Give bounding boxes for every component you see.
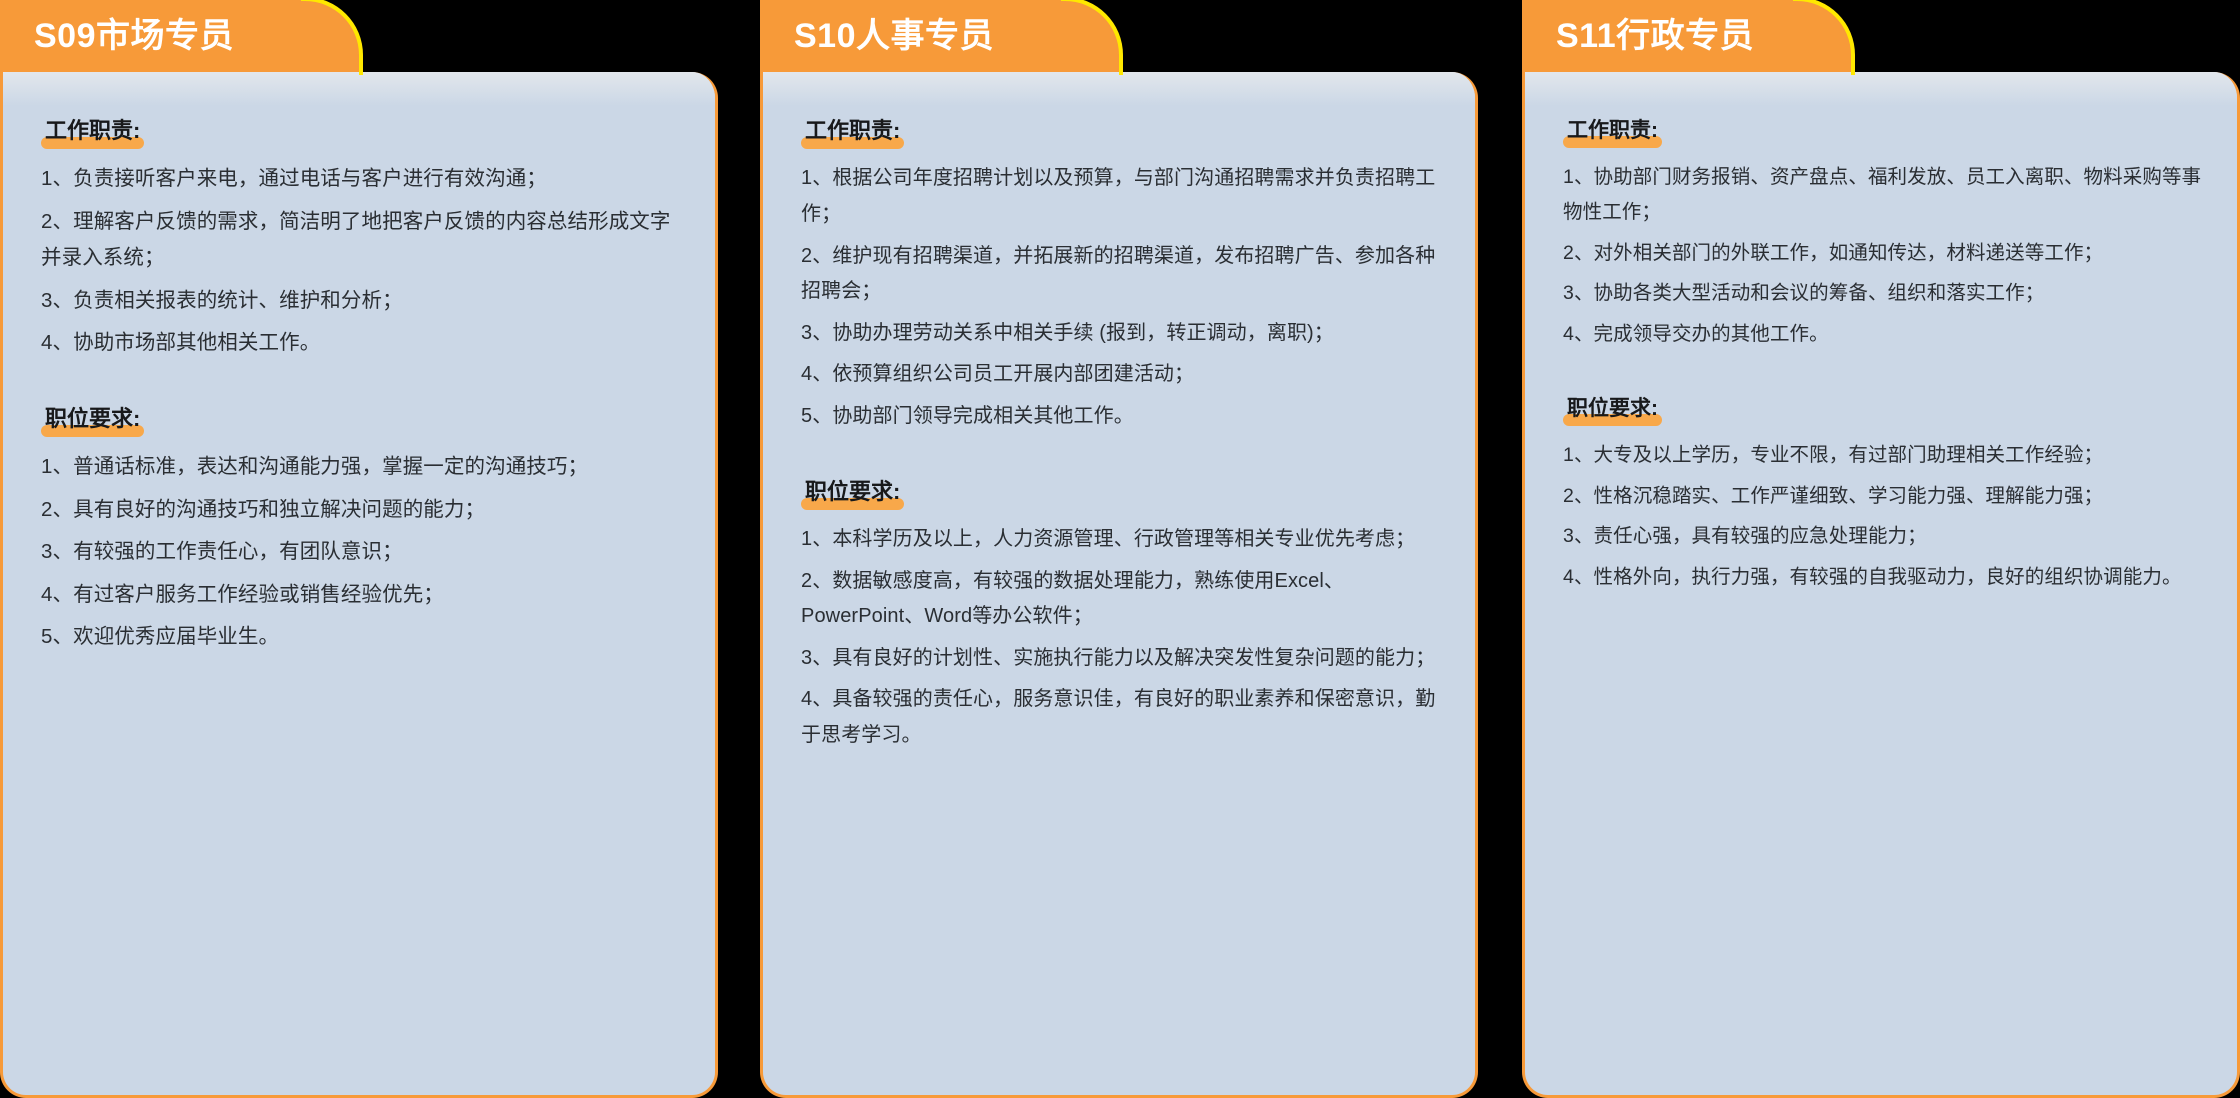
tab-corner-accent-icon <box>1061 0 1123 75</box>
list-item: 3、协助各类大型活动和会议的筹备、组织和落实工作； <box>1563 276 2211 311</box>
requirements-list-s11: 1、大专及以上学历，专业不限，有过部门助理相关工作经验； 2、性格沉稳踏实、工作… <box>1563 438 2211 595</box>
list-item: 1、协助部门财务报销、资产盘点、福利发放、员工入离职、物料采购等事物性工作； <box>1563 160 2211 229</box>
section-heading-duties-s09: 工作职责: <box>41 118 144 147</box>
job-card-s11: S11行政专员 工作职责: 1、协助部门财务报销、资产盘点、福利发放、员工入离职… <box>1522 0 2240 1098</box>
job-card-body-s11: 工作职责: 1、协助部门财务报销、资产盘点、福利发放、员工入离职、物料采购等事物… <box>1522 72 2240 1098</box>
list-item: 4、完成领导交办的其他工作。 <box>1563 317 2211 352</box>
list-item: 3、具有良好的计划性、实施执行能力以及解决突发性复杂问题的能力； <box>801 641 1449 677</box>
job-card-tab-s11: S11行政专员 <box>1522 0 1852 72</box>
section-requirements-s10: 职位要求: 1、本科学历及以上，人力资源管理、行政管理等相关专业优先考虑； 2、… <box>801 479 1449 754</box>
job-title-s10: S10人事专员 <box>794 19 994 53</box>
list-item: 2、性格沉稳踏实、工作严谨细致、学习能力强、理解能力强； <box>1563 479 2211 514</box>
section-heading-text: 职位要求: <box>45 406 140 431</box>
job-card-s10: S10人事专员 工作职责: 1、根据公司年度招聘计划以及预算，与部门沟通招聘需求… <box>760 0 1478 1098</box>
section-heading-requirements-s09: 职位要求: <box>41 406 144 435</box>
section-requirements-s11: 职位要求: 1、大专及以上学历，专业不限，有过部门助理相关工作经验； 2、性格沉… <box>1563 396 2211 595</box>
list-item: 1、普通话标准，表达和沟通能力强，掌握一定的沟通技巧； <box>41 449 689 485</box>
list-item: 2、对外相关部门的外联工作，如通知传达，材料递送等工作； <box>1563 236 2211 271</box>
job-card-tab-s10: S10人事专员 <box>760 0 1120 72</box>
section-heading-duties-s10: 工作职责: <box>801 118 904 147</box>
list-item: 4、性格外向，执行力强，有较强的自我驱动力，良好的组织协调能力。 <box>1563 560 2211 595</box>
list-item: 3、责任心强，具有较强的应急处理能力； <box>1563 519 2211 554</box>
job-card-s09: S09市场专员 工作职责: 1、负责接听客户来电，通过电话与客户进行有效沟通； … <box>0 0 718 1098</box>
list-item: 3、有较强的工作责任心，有团队意识； <box>41 534 689 570</box>
section-duties-s11: 工作职责: 1、协助部门财务报销、资产盘点、福利发放、员工入离职、物料采购等事物… <box>1563 118 2211 352</box>
section-heading-text: 工作职责: <box>45 118 140 143</box>
section-requirements-s09: 职位要求: 1、普通话标准，表达和沟通能力强，掌握一定的沟通技巧； 2、具有良好… <box>41 406 689 656</box>
duties-list-s11: 1、协助部门财务报销、资产盘点、福利发放、员工入离职、物料采购等事物性工作； 2… <box>1563 160 2211 352</box>
list-item: 4、依预算组织公司员工开展内部团建活动； <box>801 357 1449 393</box>
list-item: 2、维护现有招聘渠道，并拓展新的招聘渠道，发布招聘广告、参加各种招聘会； <box>801 239 1449 310</box>
section-heading-requirements-s11: 职位要求: <box>1563 396 1662 424</box>
list-item: 3、负责相关报表的统计、维护和分析； <box>41 283 689 319</box>
section-heading-text: 工作职责: <box>1567 119 1658 142</box>
section-heading-text: 职位要求: <box>805 479 900 504</box>
tab-corner-accent-icon <box>1793 0 1855 75</box>
section-heading-text: 职位要求: <box>1567 397 1658 420</box>
list-item: 4、有过客户服务工作经验或销售经验优先； <box>41 577 689 613</box>
duties-list-s09: 1、负责接听客户来电，通过电话与客户进行有效沟通； 2、理解客户反馈的需求，简洁… <box>41 161 689 361</box>
job-title-s11: S11行政专员 <box>1556 19 1754 53</box>
duties-list-s10: 1、根据公司年度招聘计划以及预算，与部门沟通招聘需求并负责招聘工作； 2、维护现… <box>801 161 1449 434</box>
section-duties-s09: 工作职责: 1、负责接听客户来电，通过电话与客户进行有效沟通； 2、理解客户反馈… <box>41 118 689 362</box>
job-card-tab-s09: S09市场专员 <box>0 0 360 72</box>
job-card-body-s10: 工作职责: 1、根据公司年度招聘计划以及预算，与部门沟通招聘需求并负责招聘工作；… <box>760 72 1478 1098</box>
list-item: 2、理解客户反馈的需求，简洁明了地把客户反馈的内容总结形成文字并录入系统； <box>41 204 689 277</box>
job-title-s09: S09市场专员 <box>34 19 234 53</box>
list-item: 5、欢迎优秀应届毕业生。 <box>41 619 689 655</box>
list-item: 3、协助办理劳动关系中相关手续 (报到，转正调动，离职)； <box>801 316 1449 352</box>
list-item: 2、具有良好的沟通技巧和独立解决问题的能力； <box>41 492 689 528</box>
section-heading-duties-s11: 工作职责: <box>1563 118 1662 146</box>
list-item: 1、根据公司年度招聘计划以及预算，与部门沟通招聘需求并负责招聘工作； <box>801 161 1449 232</box>
list-item: 4、具备较强的责任心，服务意识佳，有良好的职业素养和保密意识，勤于思考学习。 <box>801 682 1449 753</box>
section-heading-text: 工作职责: <box>805 118 900 143</box>
list-item: 1、负责接听客户来电，通过电话与客户进行有效沟通； <box>41 161 689 197</box>
section-duties-s10: 工作职责: 1、根据公司年度招聘计划以及预算，与部门沟通招聘需求并负责招聘工作；… <box>801 118 1449 435</box>
job-card-body-s09: 工作职责: 1、负责接听客户来电，通过电话与客户进行有效沟通； 2、理解客户反馈… <box>0 72 718 1098</box>
list-item: 1、大专及以上学历，专业不限，有过部门助理相关工作经验； <box>1563 438 2211 473</box>
list-item: 1、本科学历及以上，人力资源管理、行政管理等相关专业优先考虑； <box>801 522 1449 558</box>
list-item: 4、协助市场部其他相关工作。 <box>41 325 689 361</box>
list-item: 2、数据敏感度高，有较强的数据处理能力，熟练使用Excel、PowerPoint… <box>801 564 1449 635</box>
section-heading-requirements-s10: 职位要求: <box>801 479 904 508</box>
job-description-board: S09市场专员 工作职责: 1、负责接听客户来电，通过电话与客户进行有效沟通； … <box>0 0 2240 1098</box>
requirements-list-s09: 1、普通话标准，表达和沟通能力强，掌握一定的沟通技巧； 2、具有良好的沟通技巧和… <box>41 449 689 655</box>
list-item: 5、协助部门领导完成相关其他工作。 <box>801 399 1449 435</box>
requirements-list-s10: 1、本科学历及以上，人力资源管理、行政管理等相关专业优先考虑； 2、数据敏感度高… <box>801 522 1449 754</box>
tab-corner-accent-icon <box>301 0 363 75</box>
